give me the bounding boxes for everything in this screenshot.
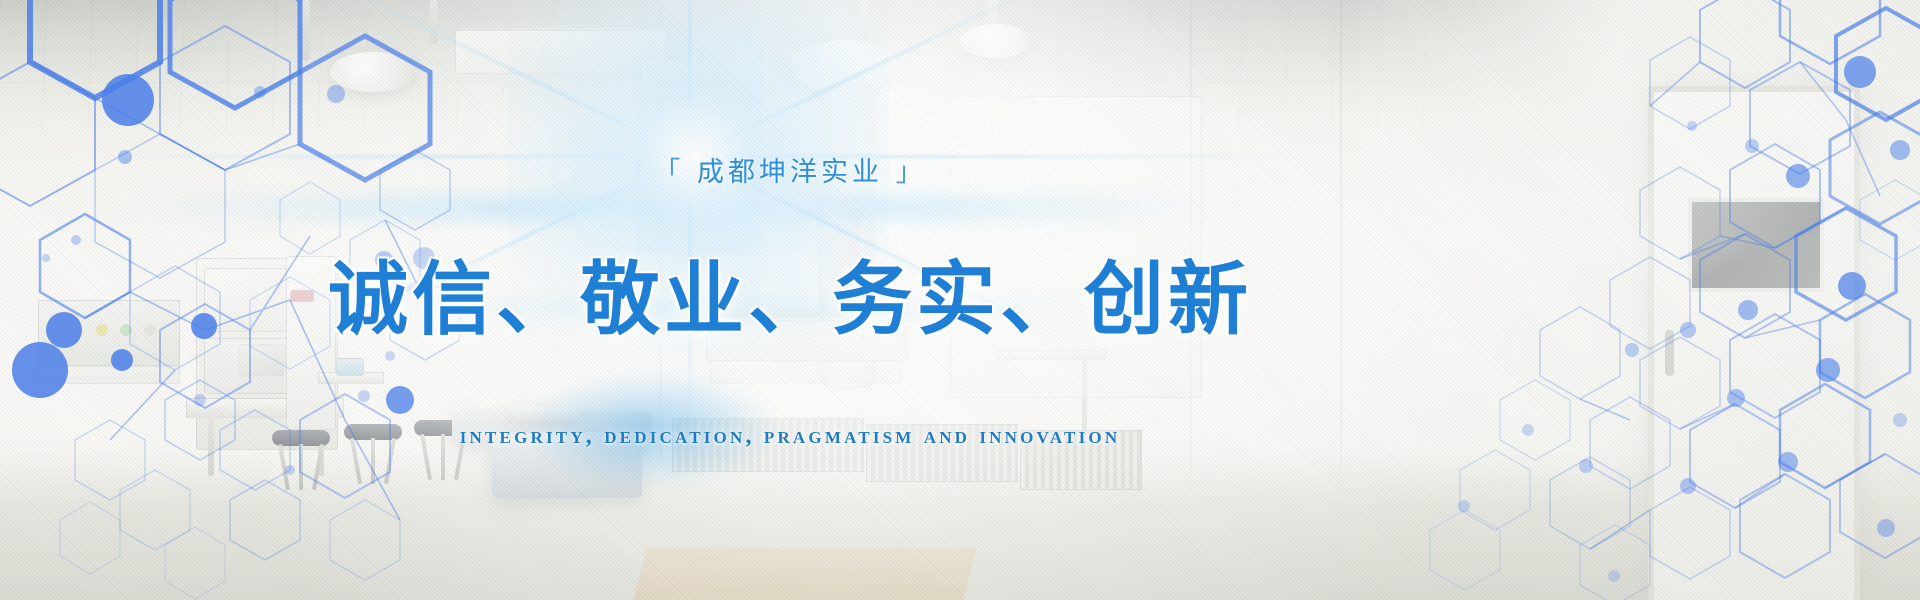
hero-text-block: 「 成都坤洋实业 」 诚信、敬业、务实、创新 Integrity, dedica… xyxy=(0,0,1580,600)
company-eyebrow: 「 成都坤洋实业 」 xyxy=(653,150,926,189)
hero-banner: 「 成都坤洋实业 」 诚信、敬业、务实、创新 Integrity, dedica… xyxy=(0,0,1920,600)
hero-subline: Integrity, dedication, pragmatism and in… xyxy=(460,423,1121,450)
bracket-close-icon: 」 xyxy=(896,157,927,188)
hero-headline: 诚信、敬业、务实、创新 xyxy=(328,257,1252,343)
company-name: 成都坤洋实业 xyxy=(697,157,883,188)
bracket-open-icon: 「 xyxy=(653,157,684,188)
